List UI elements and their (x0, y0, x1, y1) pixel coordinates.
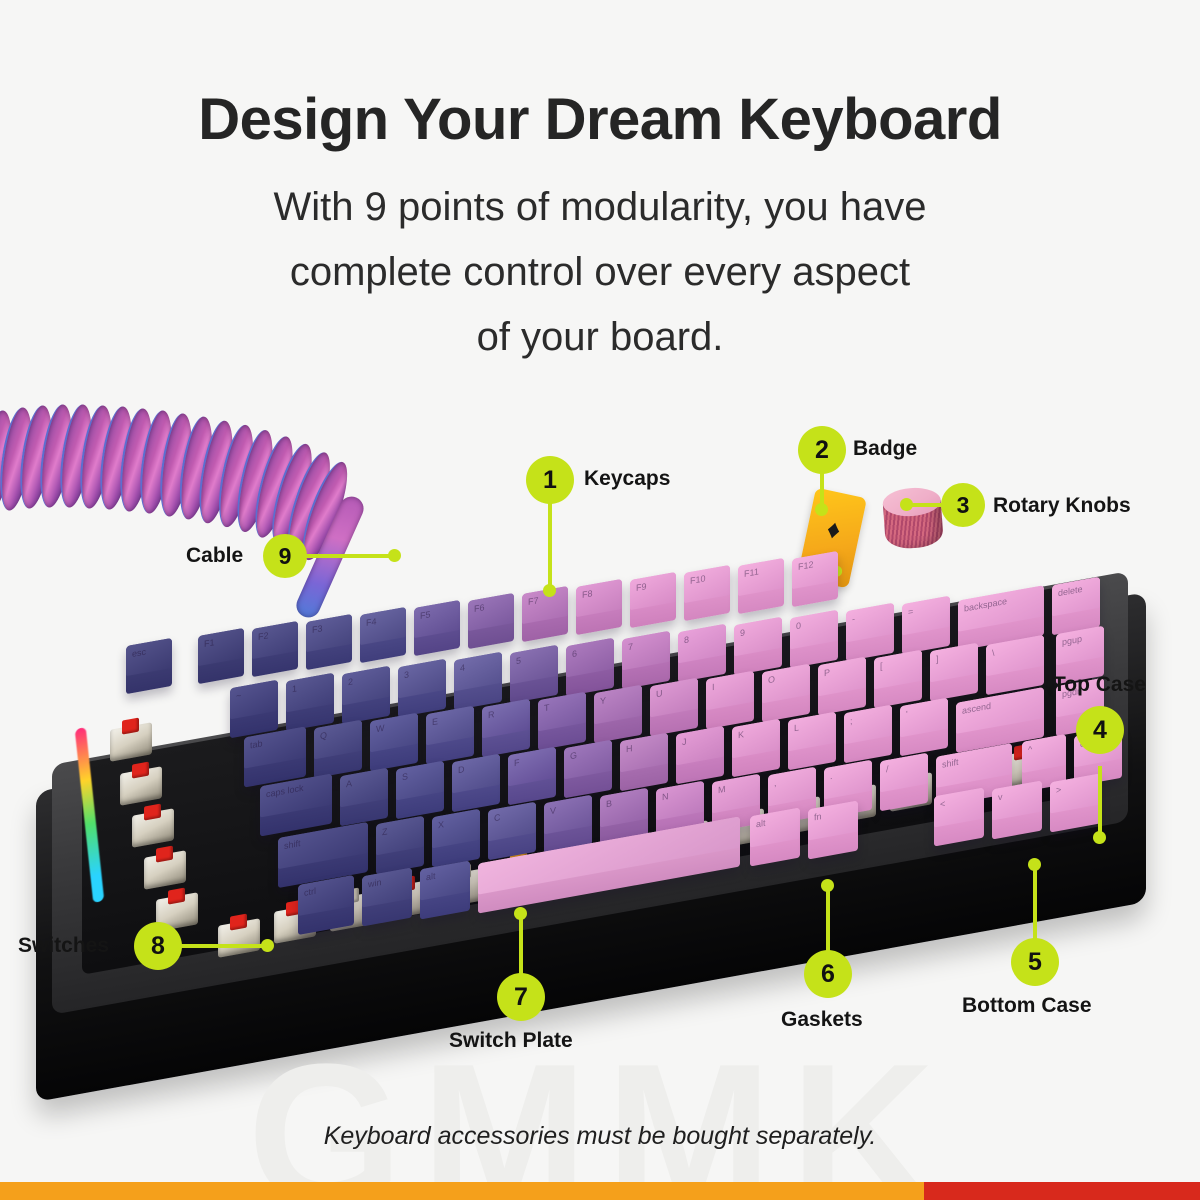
callout-label-badge: Badge (853, 437, 917, 461)
keycap: U (650, 678, 698, 737)
leader-tip (815, 503, 828, 516)
leader-tip (543, 584, 556, 597)
keycap: X (432, 809, 480, 868)
brand-watermark: GMMK (0, 1035, 1200, 1200)
keycap: I (706, 671, 754, 730)
callout-number-9[interactable]: 9 (263, 534, 307, 578)
leader-line (519, 912, 523, 980)
keycap: ctrl (298, 875, 354, 935)
leader-line (306, 554, 396, 558)
keycap: = (902, 596, 950, 655)
bar-segment-orange (0, 1182, 924, 1200)
keycap: v (992, 781, 1042, 840)
callout-label-gaskets: Gaskets (781, 1008, 863, 1032)
leader-line (548, 492, 552, 592)
keycap: F11 (738, 558, 784, 614)
keycap: - (846, 603, 894, 662)
keycap: F (508, 747, 556, 806)
callout-number-8[interactable]: 8 (134, 922, 182, 970)
keycap: O (762, 664, 810, 723)
keycap: A (340, 768, 388, 827)
keycap: ] (930, 643, 978, 702)
keycap: W (370, 713, 418, 772)
leader-tip (1093, 831, 1106, 844)
callout-label-rotary-knobs: Rotary Knobs (993, 494, 1131, 518)
keycap: R (482, 699, 530, 758)
bottom-accent-bar (0, 1182, 1200, 1200)
keycap: delete (1052, 577, 1100, 636)
keycap: D (452, 754, 500, 813)
leader-line (1098, 766, 1102, 838)
leader-tip (388, 549, 401, 562)
callout-label-top-case: Top Case (1053, 673, 1146, 697)
keycap: > (1050, 774, 1100, 833)
callout-number-3[interactable]: 3 (941, 483, 985, 527)
keycap: F10 (684, 565, 730, 621)
leader-line (178, 944, 268, 948)
keycap: Y (594, 685, 642, 744)
keycap: H (620, 733, 668, 792)
leader-tip (261, 939, 274, 952)
keycap: P (818, 657, 866, 716)
callout-number-2[interactable]: 2 (798, 426, 846, 474)
keycap: 3 (398, 659, 446, 718)
leader-tip (821, 879, 834, 892)
keycap: / (880, 753, 928, 812)
leader-tip (1028, 858, 1041, 871)
keycap: 6 (566, 638, 614, 697)
keycap: 8 (678, 624, 726, 683)
keycap: F9 (630, 572, 676, 628)
callout-label-bottom-case: Bottom Case (962, 994, 1092, 1018)
callout-number-4[interactable]: 4 (1076, 706, 1124, 754)
keycap: ' (900, 698, 948, 757)
callout-number-1[interactable]: 1 (526, 456, 574, 504)
keycap: \ (986, 635, 1044, 695)
keycap: ~ (230, 680, 278, 739)
keycap: alt (420, 861, 470, 920)
leader-tip (514, 907, 527, 920)
keycap: < (934, 788, 984, 847)
keycap: C (488, 802, 536, 861)
keycap: E (426, 706, 474, 765)
keycap: Q (314, 720, 362, 779)
keycap: alt (750, 808, 800, 867)
leader-tip (900, 498, 913, 511)
callout-label-keycaps: Keycaps (584, 467, 670, 491)
callout-number-6[interactable]: 6 (804, 950, 852, 998)
keycap: win (362, 868, 412, 927)
keycap: esc (126, 638, 172, 694)
keycap: F5 (414, 600, 460, 656)
keycap: S (396, 761, 444, 820)
disclaimer-text: Keyboard accessories must be bought sepa… (0, 1122, 1200, 1151)
leader-line (826, 884, 830, 956)
keycap: 0 (790, 610, 838, 669)
keycap: F12 (792, 551, 838, 607)
keycap: G (564, 740, 612, 799)
bar-segment-red (924, 1182, 1200, 1200)
keycap: 7 (622, 631, 670, 690)
keycap: Z (376, 816, 424, 875)
keycap: F3 (306, 614, 352, 670)
callout-label-switches: Switches (18, 934, 109, 958)
keyboard: esc F1 F2 F3 F4 F5 F6 F7 F8 F9 F10 F11 F… (30, 540, 1170, 1040)
keycap: L (788, 712, 836, 771)
keycap: F2 (252, 621, 298, 677)
keycap: 9 (734, 617, 782, 676)
callout-label-cable: Cable (186, 544, 243, 568)
callout-number-5[interactable]: 5 (1011, 938, 1059, 986)
keycap: K (732, 719, 780, 778)
leader-line (1033, 862, 1037, 944)
callout-label-switch-plate: Switch Plate (449, 1029, 573, 1053)
keycap: F8 (576, 579, 622, 635)
keycap: [ (874, 650, 922, 709)
keycap: 5 (510, 645, 558, 704)
keycap: 2 (342, 666, 390, 725)
keycap: fn (808, 801, 858, 860)
infographic-page: Design Your Dream Keyboard With 9 points… (0, 0, 1200, 1200)
keycap: F4 (360, 607, 406, 663)
keycap: ; (844, 705, 892, 764)
keycap: T (538, 692, 586, 751)
keycap: F1 (198, 628, 244, 684)
keycap: J (676, 726, 724, 785)
product-illustration: ♦ (0, 0, 1200, 1200)
keycap: 1 (286, 673, 334, 732)
keycap: 4 (454, 652, 502, 711)
keycap: F6 (468, 593, 514, 649)
callout-number-7[interactable]: 7 (497, 973, 545, 1021)
